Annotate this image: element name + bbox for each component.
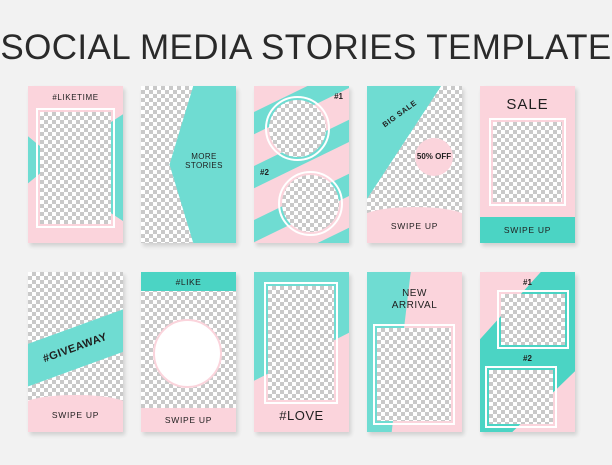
swipe-up-label: SWIPE UP [141,408,236,432]
photo-placeholder[interactable] [40,112,111,224]
page-title: SOCIAL MEDIA STORIES TEMPLATE [0,28,612,68]
like-card[interactable]: #LIKE SWIPE UP [141,272,236,432]
photo-placeholder-2[interactable] [489,370,553,424]
discount-badge: 50% OFF [415,138,453,176]
big-sale-card[interactable]: BIG SALE 50% OFF SWIPE UP [367,86,462,243]
love-card[interactable]: #LOVE [254,272,349,432]
liketime-heading: #LIKETIME [28,93,123,102]
sale-card[interactable]: SALE SWIPE UP [480,86,575,243]
circle-photo-frame-1 [265,96,330,161]
new-arrival-heading: NEW ARRIVAL [367,288,462,311]
swipe-up-label: SWIPE UP [367,209,462,243]
numbered-photos-card[interactable]: #1 #2 [480,272,575,432]
new-arrival-card[interactable]: NEW ARRIVAL [367,272,462,432]
like-heading: #LIKE [176,277,202,287]
more-stories-card[interactable]: MORE STORIES [141,86,236,243]
photo-label-2: #2 [260,168,269,177]
photo-placeholder[interactable] [268,286,334,400]
photo-placeholder-1[interactable] [501,294,565,345]
more-stories-heading: MORE STORIES [174,152,234,170]
photo-label-1: #1 [480,278,575,287]
swipe-up-label: SWIPE UP [480,217,575,243]
white-circle-overlay [153,319,222,388]
photo-placeholder[interactable] [377,328,451,421]
two-circles-card[interactable]: #1 #2 [254,86,349,243]
sale-heading: SALE [480,96,575,113]
giveaway-heading: #GIVEAWAY [42,331,109,365]
like-header-bar: #LIKE [141,272,236,291]
giveaway-card[interactable]: #GIVEAWAY SWIPE UP [28,272,123,432]
love-heading: #LOVE [254,409,349,424]
photo-label-2: #2 [480,354,575,363]
swipe-up-label: SWIPE UP [28,397,123,432]
photo-placeholder[interactable] [493,122,562,202]
liketime-card[interactable]: #LIKETIME [28,86,123,243]
circle-photo-frame-2 [278,171,343,236]
photo-label-1: #1 [334,92,343,101]
